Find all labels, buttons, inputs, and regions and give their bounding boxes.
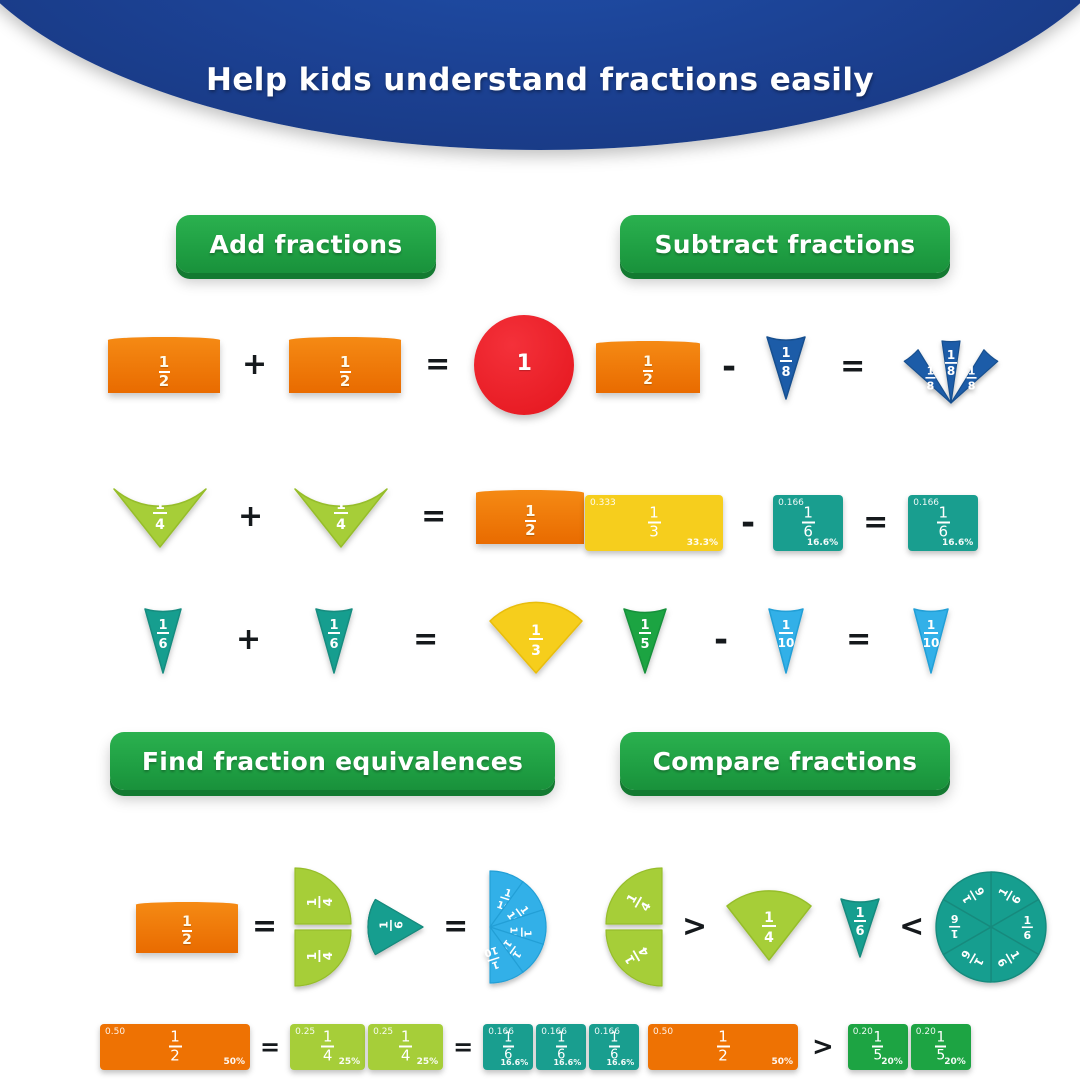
operator-equals: = — [391, 502, 476, 532]
fraction-piece-half[interactable]: 12 — [289, 337, 401, 393]
fraction-piece-sixth[interactable]: 1 6 — [128, 601, 198, 679]
svg-text:1: 1 — [158, 618, 167, 633]
bar-tile-third[interactable]: 0.333 13 33.3% — [585, 495, 723, 551]
operator-plus: + — [210, 502, 291, 532]
svg-text:1: 1 — [1024, 914, 1032, 927]
fraction-group-two-quarters[interactable]: 1 4 1 4 — [291, 864, 353, 990]
operator-plus: + — [220, 350, 289, 380]
equation-row-add-2: 1 4 + 1 4 = 12 — [110, 462, 584, 572]
svg-text:1: 1 — [968, 364, 976, 377]
svg-text:6: 6 — [951, 912, 959, 925]
fraction-label: 12 — [136, 915, 238, 947]
equation-row-equivalences-1: 12 = 1 4 1 4 — [136, 862, 546, 992]
operator-equals: = — [443, 1035, 483, 1059]
section-label: Compare fractions — [653, 747, 918, 776]
operator-equals: = — [369, 625, 482, 655]
operator-plus: + — [198, 625, 299, 655]
fraction-piece-quarter[interactable]: 1 4 — [110, 481, 210, 553]
fraction-piece-tenth[interactable]: 1 10 — [760, 601, 812, 679]
operator-greater-than: > — [798, 1034, 848, 1060]
svg-text:1: 1 — [155, 497, 165, 513]
operator-equals: = — [427, 912, 484, 942]
svg-text:1: 1 — [305, 898, 319, 906]
bar-tile-sixth[interactable]: 0.166 16 16.6% — [483, 1024, 533, 1070]
bar-group-fifths: 0.20 15 20% 0.20 15 20% — [848, 1024, 971, 1070]
operator-minus: - — [700, 350, 758, 384]
fraction-piece-quarter[interactable]: 1 4 — [291, 481, 391, 553]
svg-text:1: 1 — [640, 618, 649, 633]
svg-text:1: 1 — [927, 364, 935, 377]
svg-text:1: 1 — [531, 623, 541, 639]
fraction-piece-half[interactable]: 12 — [136, 902, 238, 953]
svg-text:4: 4 — [155, 517, 165, 533]
fraction-piece-tenth[interactable]: 1 10 — [905, 601, 957, 679]
svg-text:4: 4 — [321, 952, 335, 960]
fraction-group-two-quarters[interactable]: 1 4 1 4 — [604, 864, 666, 990]
fraction-piece-half[interactable]: 12 — [596, 341, 700, 393]
bar-tile-quarter[interactable]: 0.25 14 25% — [290, 1024, 365, 1070]
section-header-compare-fractions[interactable]: Compare fractions — [620, 732, 950, 790]
svg-text:1: 1 — [951, 927, 959, 940]
svg-text:8: 8 — [947, 364, 955, 378]
svg-text:6: 6 — [856, 924, 865, 939]
equation-row-compare-1: 1 4 1 4 > 1 4 — [604, 862, 1050, 992]
svg-text:6: 6 — [393, 921, 406, 929]
equation-row-add-3: 1 6 + 1 6 = 1 3 — [128, 585, 590, 695]
bar-tile-sixth[interactable]: 0.166 16 16.6% — [908, 495, 978, 551]
bar-percent: 16.6% — [500, 1058, 528, 1067]
svg-text:1: 1 — [947, 348, 955, 362]
section-label: Find fraction equivalences — [142, 747, 523, 776]
svg-text:1: 1 — [378, 921, 391, 929]
svg-text:6: 6 — [158, 637, 167, 652]
fraction-piece-third[interactable]: 1 3 — [482, 601, 590, 679]
page-title: Help kids understand fractions easily — [0, 62, 1080, 98]
bar-tile-half[interactable]: 0.50 12 50% — [648, 1024, 798, 1070]
svg-text:4: 4 — [336, 517, 346, 533]
operator-equals: = — [814, 352, 891, 382]
section-label: Add fractions — [209, 230, 402, 259]
svg-text:4: 4 — [764, 930, 774, 946]
equation-row-subtract-3: 1 5 - 1 10 = 1 10 — [608, 585, 957, 695]
bar-tile-half[interactable]: 0.50 12 50% — [100, 1024, 250, 1070]
whole-label: 1 — [474, 353, 574, 375]
operator-less-than: < — [891, 912, 932, 942]
fraction-piece-sixth[interactable]: 1 6 — [829, 891, 891, 963]
fraction-group-six-sixths-circle[interactable]: 1 6 1 6 1 6 1 6 1 6 1 6 — [932, 868, 1050, 986]
equation-row-subtract-2: 0.333 13 33.3% - 0.166 16 16.6% = 0.166 … — [585, 468, 978, 578]
fraction-piece-sixth[interactable]: 1 6 — [299, 601, 369, 679]
svg-text:8: 8 — [782, 365, 791, 380]
bar-percent: 25% — [339, 1057, 361, 1067]
fraction-group-three-eighths[interactable]: 1 8 1 8 1 8 — [891, 325, 1011, 409]
bar-percent: 20% — [881, 1057, 903, 1067]
svg-text:10: 10 — [778, 636, 795, 650]
equation-row-add-1: 12 + 12 = 1 — [108, 310, 574, 420]
bar-percent: 16.6% — [606, 1058, 634, 1067]
fraction-label: 12 — [289, 355, 401, 389]
svg-text:1: 1 — [330, 618, 339, 633]
bar-fraction: 16 — [773, 506, 843, 541]
bar-group-quarters: 0.25 14 25% 0.25 14 25% — [290, 1024, 443, 1070]
svg-text:5: 5 — [640, 637, 649, 652]
svg-text:1: 1 — [522, 930, 533, 937]
bar-percent: 16.6% — [553, 1058, 581, 1067]
operator-greater-than: > — [666, 912, 723, 942]
operator-equals: = — [238, 912, 291, 942]
svg-text:10: 10 — [923, 636, 940, 650]
fraction-piece-half[interactable]: 12 — [108, 337, 220, 393]
svg-text:3: 3 — [531, 643, 541, 659]
bar-percent: 50% — [223, 1057, 245, 1067]
fraction-label: 12 — [476, 504, 584, 538]
fraction-group-three-sixths[interactable]: 1 6 1 6 1 6 — [367, 868, 427, 986]
bar-tile-quarter[interactable]: 0.25 14 25% — [368, 1024, 443, 1070]
operator-equals: = — [401, 350, 474, 380]
fraction-label: 12 — [108, 355, 220, 389]
svg-text:1: 1 — [782, 346, 791, 361]
bar-percent: 50% — [771, 1057, 793, 1067]
fraction-label: 12 — [596, 355, 700, 387]
bar-percent: 20% — [944, 1057, 966, 1067]
bar-percent: 33.3% — [687, 538, 718, 548]
bar-tile-sixth[interactable]: 0.166 16 16.6% — [773, 495, 843, 551]
section-header-subtract-fractions[interactable]: Subtract fractions — [620, 215, 950, 273]
svg-text:8: 8 — [927, 379, 935, 392]
operator-equals: = — [812, 625, 905, 655]
svg-text:1: 1 — [305, 952, 319, 960]
fraction-piece-quarter[interactable]: 1 4 — [723, 888, 815, 966]
bar-percent: 16.6% — [942, 538, 973, 548]
operator-equals: = — [250, 1035, 290, 1059]
svg-text:1: 1 — [764, 910, 774, 926]
equation-row-subtract-1: 12 - 1 8 = 1 8 — [596, 312, 1011, 422]
bar-fraction: 16 — [908, 506, 978, 541]
fraction-piece-whole[interactable]: 1 — [474, 315, 574, 415]
svg-text:8: 8 — [968, 379, 976, 392]
section-header-add-fractions[interactable]: Add fractions — [176, 215, 436, 273]
equation-row-equivalences-bars: 0.50 12 50% = 0.25 14 25% 0.25 14 25% = … — [100, 1022, 639, 1072]
bar-group-sixths: 0.166 16 16.6% 0.166 16 16.6% 0.166 16 1… — [483, 1024, 639, 1070]
svg-text:1: 1 — [336, 497, 346, 513]
svg-text:4: 4 — [321, 898, 335, 906]
svg-text:6: 6 — [330, 637, 339, 652]
bar-tile-fifth[interactable]: 0.20 15 20% — [848, 1024, 908, 1070]
bar-tile-fifth[interactable]: 0.20 15 20% — [911, 1024, 971, 1070]
operator-minus: - — [723, 506, 773, 540]
equation-row-compare-bars: 0.50 12 50% > 0.20 15 20% 0.20 15 20% — [648, 1022, 971, 1072]
svg-text:1: 1 — [782, 618, 790, 632]
svg-text:1: 1 — [856, 906, 865, 921]
svg-text:6: 6 — [1024, 929, 1032, 942]
section-header-find-fraction-equivalences[interactable]: Find fraction equivalences — [110, 732, 555, 790]
fraction-piece-eighth[interactable]: 1 8 — [758, 329, 814, 405]
bar-percent: 16.6% — [807, 538, 838, 548]
fraction-piece-fifth[interactable]: 1 5 — [608, 601, 682, 679]
fraction-piece-half[interactable]: 12 — [476, 490, 584, 544]
fraction-group-five-tenths[interactable]: 1 10 1 10 1 10 1 — [484, 867, 546, 987]
bar-percent: 25% — [417, 1057, 439, 1067]
section-label: Subtract fractions — [655, 230, 916, 259]
bar-fraction: 13 — [585, 506, 723, 541]
operator-minus: - — [682, 623, 760, 657]
bar-tile-sixth[interactable]: 0.166 16 16.6% — [589, 1024, 639, 1070]
svg-text:1: 1 — [927, 618, 935, 632]
bar-tile-sixth[interactable]: 0.166 16 16.6% — [536, 1024, 586, 1070]
operator-equals: = — [843, 508, 908, 538]
